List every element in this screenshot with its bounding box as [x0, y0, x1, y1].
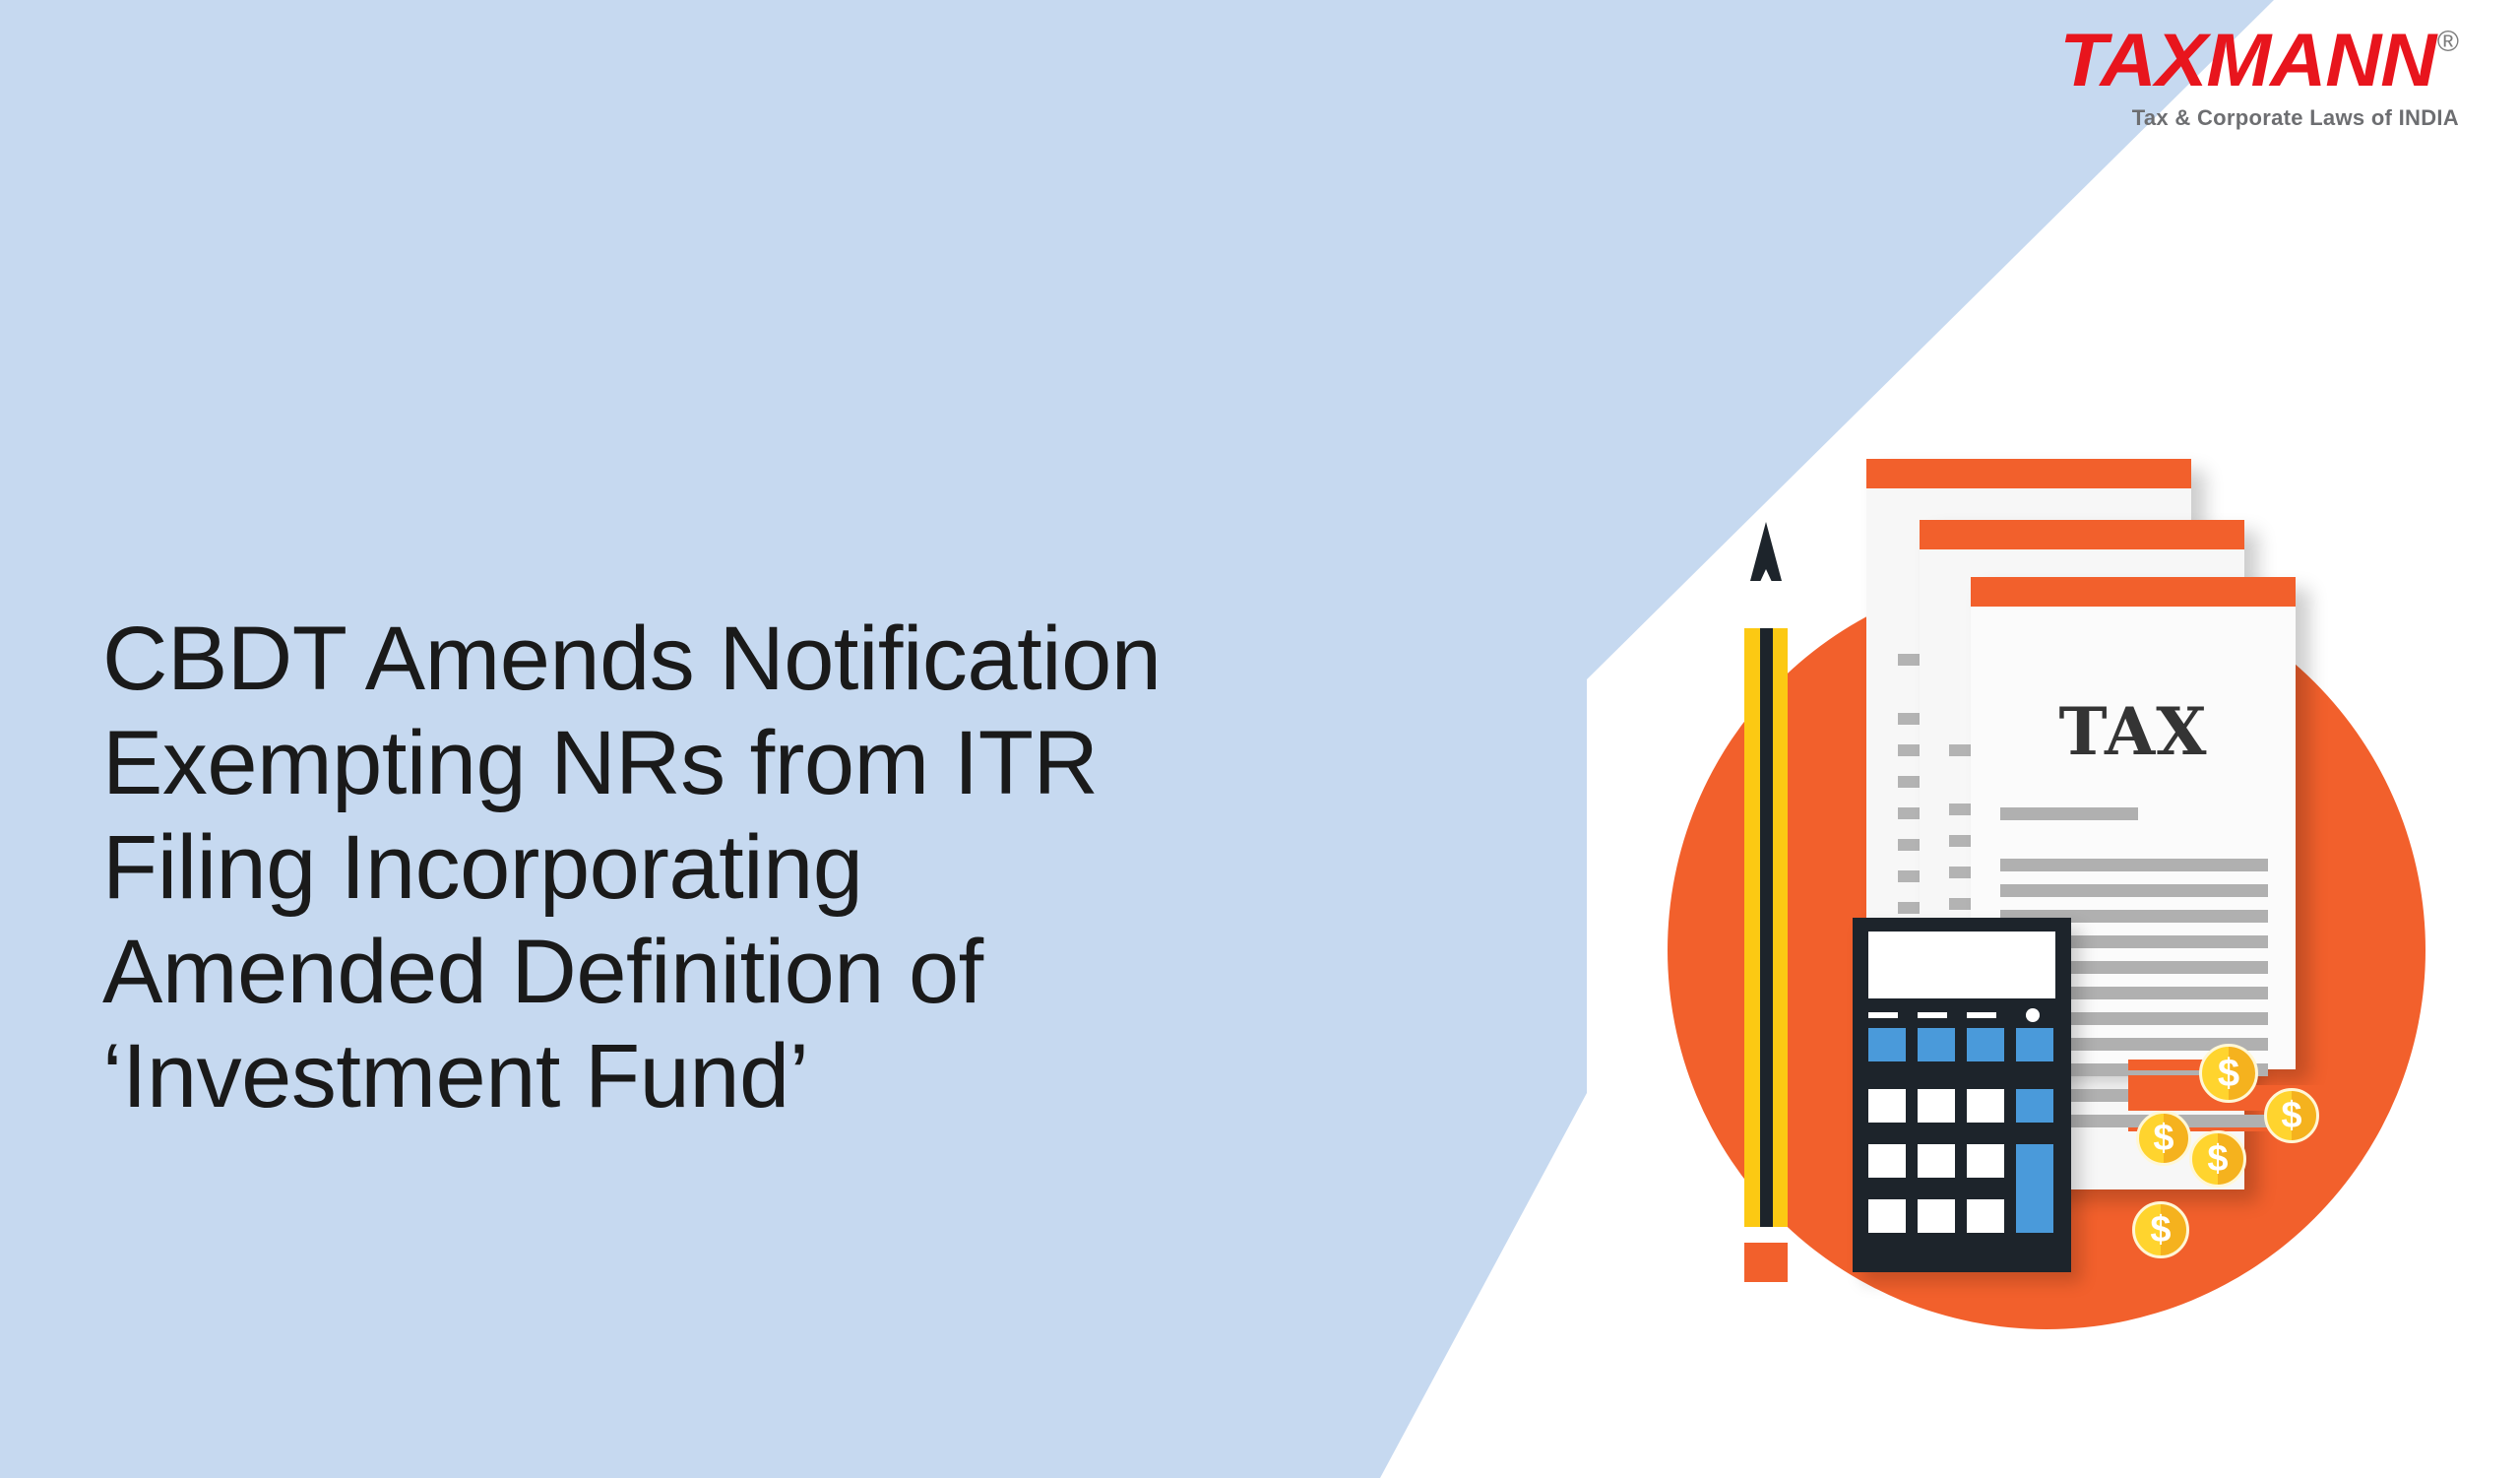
dollar-coin: $: [2136, 1111, 2191, 1166]
calculator-key: [1967, 1144, 2004, 1178]
document-header-band: [1920, 520, 2244, 549]
calculator-icon: [1853, 918, 2071, 1272]
calculator-key: [1918, 1028, 1955, 1061]
logo-wordmark: TAXMANN: [2059, 26, 2435, 96]
headline-line-3: Filing Incorporating: [102, 815, 1402, 920]
logo-wordmark-row: TAXMANN®: [2036, 26, 2459, 96]
calculator-key: [1868, 1089, 1906, 1123]
calculator-key: [1918, 1089, 1955, 1123]
dollar-coin: $: [2189, 1130, 2246, 1188]
dollar-coin: $: [2132, 1201, 2189, 1258]
taxmann-logo[interactable]: TAXMANN® Tax & Corporate Laws of INDIA: [2036, 26, 2459, 131]
page-title: CBDT Amends Notification Exempting NRs f…: [102, 607, 1402, 1128]
pencil-icon: [1738, 522, 1794, 1310]
dollar-sign-icon: $: [2139, 1114, 2188, 1163]
calculator-indicator: [1918, 1012, 1947, 1018]
calculator-key: [1868, 1144, 1906, 1178]
calculator-power-dot-icon: [2026, 1008, 2040, 1022]
dollar-sign-icon: $: [2192, 1133, 2243, 1185]
calculator-key: [1967, 1089, 2004, 1123]
document-text-line: [2000, 884, 2268, 897]
dollar-sign-icon: $: [2135, 1204, 2186, 1255]
dollar-sign-icon: $: [2202, 1047, 2255, 1100]
document-title-tax: TAX: [1971, 693, 2296, 770]
pencil-eraser: [1744, 1243, 1788, 1282]
calculator-key: [1967, 1028, 2004, 1061]
pencil-ferrule: [1744, 1227, 1788, 1243]
calculator-key: [1868, 1028, 1906, 1061]
pencil-stripe: [1760, 628, 1773, 1227]
calculator-indicator: [1967, 1012, 1996, 1018]
registered-trademark-icon: ®: [2437, 28, 2459, 57]
calculator-indicator: [1868, 1012, 1898, 1018]
calculator-key: [1967, 1199, 2004, 1233]
headline-line-2: Exempting NRs from ITR: [102, 711, 1402, 815]
document-header-band: [1971, 577, 2296, 607]
calculator-key: [2016, 1028, 2053, 1061]
calculator-key: [1918, 1144, 1955, 1178]
calculator-key: [1918, 1199, 1955, 1233]
calculator-key: [1868, 1199, 1906, 1233]
logo-tagline: Tax & Corporate Laws of INDIA: [2036, 105, 2459, 131]
dollar-coin: $: [2264, 1088, 2319, 1143]
document-header-band: [1866, 459, 2191, 488]
tax-illustration: TAX: [1575, 374, 2520, 1359]
banner-canvas: TAXMANN® Tax & Corporate Laws of INDIA C…: [0, 0, 2520, 1478]
headline-line-4: Amended Definition of: [102, 920, 1402, 1024]
calculator-display: [1868, 932, 2055, 998]
document-subtitle-line: [2000, 807, 2138, 820]
calculator-key-equals: [2016, 1144, 2053, 1233]
dollar-coin: $: [2199, 1044, 2258, 1103]
document-text-line: [2000, 859, 2268, 871]
calculator-key: [2016, 1089, 2053, 1123]
headline-line-5: ‘Investment Fund’: [102, 1024, 1402, 1128]
dollar-sign-icon: $: [2267, 1091, 2316, 1140]
headline-line-1: CBDT Amends Notification: [102, 607, 1402, 711]
